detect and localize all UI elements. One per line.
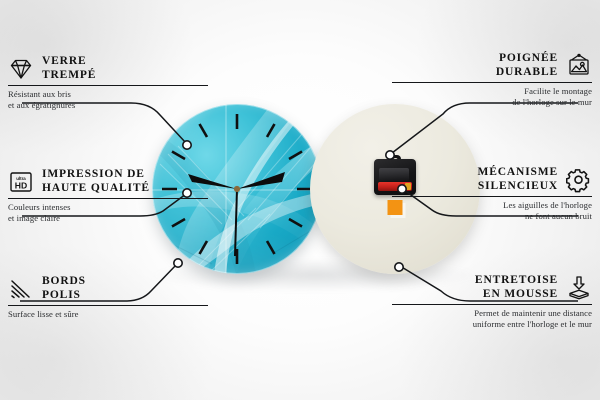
- feature-title: ENTRETOISE EN MOUSSE: [475, 274, 558, 301]
- feature-divider: [392, 82, 592, 83]
- feature-bords-polis: BORDS POLIS Surface lisse et sûre: [8, 275, 208, 320]
- feature-divider: [392, 196, 592, 197]
- feature-header: MÉCANISME SILENCIEUX: [392, 166, 592, 193]
- ultra-hd-icon: ultra HD: [8, 169, 34, 195]
- feature-divider: [8, 85, 208, 86]
- feature-verre-trempe: VERRE TREMPÉ Résistant aux bris et aux é…: [8, 55, 208, 110]
- feature-impression-haute-qualite: ultra HD IMPRESSION DE HAUTE QUALITÉ Cou…: [8, 168, 208, 223]
- feature-header: BORDS POLIS: [8, 275, 208, 302]
- svg-text:HD: HD: [15, 180, 27, 190]
- feature-title: IMPRESSION DE HAUTE QUALITÉ: [42, 168, 150, 195]
- feature-description: Surface lisse et sûre: [8, 309, 208, 320]
- feature-entretoise-en-mousse: ENTRETOISE EN MOUSSE Permet de maintenir…: [392, 274, 592, 329]
- feature-title: BORDS POLIS: [42, 275, 86, 302]
- feature-divider: [392, 304, 592, 305]
- feature-title: POIGNÉE DURABLE: [496, 52, 558, 79]
- feature-description: Les aiguilles de l'horloge ne font aucun…: [392, 200, 592, 221]
- gear-icon: [566, 167, 592, 193]
- feature-description: Permet de maintenir une distance uniform…: [392, 308, 592, 329]
- feature-divider: [8, 305, 208, 306]
- feature-mecanisme-silencieux: MÉCANISME SILENCIEUX Les aiguilles de l'…: [392, 166, 592, 221]
- infographic-canvas: VERRE TREMPÉ Résistant aux bris et aux é…: [0, 0, 600, 400]
- feature-title: MÉCANISME SILENCIEUX: [478, 166, 559, 193]
- feature-description: Résistant aux bris et aux égratignures: [8, 89, 208, 110]
- feature-header: VERRE TREMPÉ: [8, 55, 208, 82]
- feature-description: Couleurs intenses et image claire: [8, 202, 208, 223]
- feature-title: VERRE TREMPÉ: [42, 55, 96, 82]
- feature-header: ultra HD IMPRESSION DE HAUTE QUALITÉ: [8, 168, 208, 195]
- feature-divider: [8, 198, 208, 199]
- foam-spacer-icon: [566, 275, 592, 301]
- polished-edges-icon: [8, 276, 34, 302]
- hanging-frame-icon: [566, 53, 592, 79]
- feature-poignee-durable: POIGNÉE DURABLE Facilite le montage de l…: [392, 52, 592, 107]
- feature-description: Facilite le montage de l'horloge sur le …: [392, 86, 592, 107]
- diamond-icon: [8, 56, 34, 82]
- feature-header: ENTRETOISE EN MOUSSE: [392, 274, 592, 301]
- feature-header: POIGNÉE DURABLE: [392, 52, 592, 79]
